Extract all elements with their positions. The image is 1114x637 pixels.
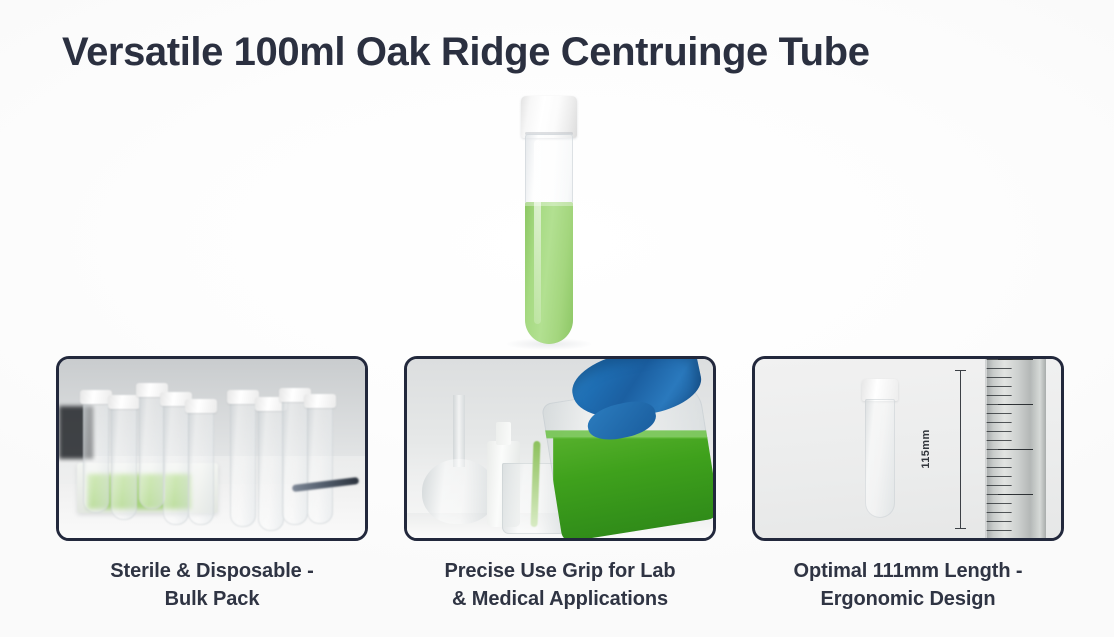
- caption-line-1: Optimal 111mm Length -: [794, 560, 1023, 582]
- measured-tube: [865, 379, 895, 519]
- hero-tube-cap: [521, 96, 577, 138]
- ruler-edge: [985, 359, 987, 538]
- tube-item: [163, 404, 189, 526]
- feature-image-bulk-pack: [56, 356, 368, 541]
- feature-card-precise-grip: Precise Use Grip for Lab & Medical Appli…: [404, 356, 716, 614]
- feature-card-length: 115mm Optimal 111mm Length - Ergonomic D…: [752, 356, 1064, 614]
- ruler-tick-marks: [985, 359, 1046, 538]
- flask-neck: [453, 395, 465, 467]
- photo-pouring-liquid: [407, 359, 713, 538]
- page-title: Versatile 100ml Oak Ridge Centruinge Tub…: [62, 30, 870, 75]
- tube-item: [307, 406, 333, 524]
- caption-line-1: Sterile & Disposable -: [110, 560, 313, 582]
- feature-caption: Sterile & Disposable - Bulk Pack: [56, 557, 368, 614]
- tube-body: [865, 399, 895, 519]
- feature-card-bulk-pack: Sterile & Disposable - Bulk Pack: [56, 356, 368, 614]
- dimension-label: 115mm: [920, 429, 932, 468]
- feature-image-precise-grip: [404, 356, 716, 541]
- dimension-line: [960, 370, 961, 529]
- steel-ruler: [985, 359, 1046, 538]
- photo-bulk-tubes: [59, 359, 365, 538]
- tube-item: [188, 411, 214, 526]
- tube-group: [59, 359, 365, 538]
- photo-tube-measurement: 115mm: [755, 359, 1061, 538]
- caption-line-2: & Medical Applications: [452, 588, 668, 610]
- hero-tube-liquid: [525, 202, 573, 344]
- hero-tube-highlight: [534, 140, 541, 324]
- hero-centrifuge-tube: [518, 96, 580, 344]
- tube-item: [111, 407, 137, 520]
- caption-line-2: Bulk Pack: [165, 588, 260, 610]
- slide-canvas: Versatile 100ml Oak Ridge Centruinge Tub…: [0, 0, 1114, 637]
- feature-panel-row: Sterile & Disposable - Bulk Pack: [56, 356, 1056, 614]
- feature-image-length: 115mm: [752, 356, 1064, 541]
- caption-line-2: Ergonomic Design: [820, 588, 995, 610]
- feature-caption: Precise Use Grip for Lab & Medical Appli…: [404, 557, 716, 614]
- tube-item: [258, 409, 284, 531]
- caption-line-1: Precise Use Grip for Lab: [444, 560, 675, 582]
- tube-cap: [862, 379, 898, 401]
- tube-item: [230, 402, 256, 527]
- tube-item: [139, 395, 165, 510]
- flask-bulb: [422, 459, 495, 523]
- tube-item: [83, 402, 109, 513]
- feature-caption: Optimal 111mm Length - Ergonomic Design: [752, 557, 1064, 614]
- hero-tube-body: [525, 134, 573, 344]
- tube-item: [282, 400, 308, 525]
